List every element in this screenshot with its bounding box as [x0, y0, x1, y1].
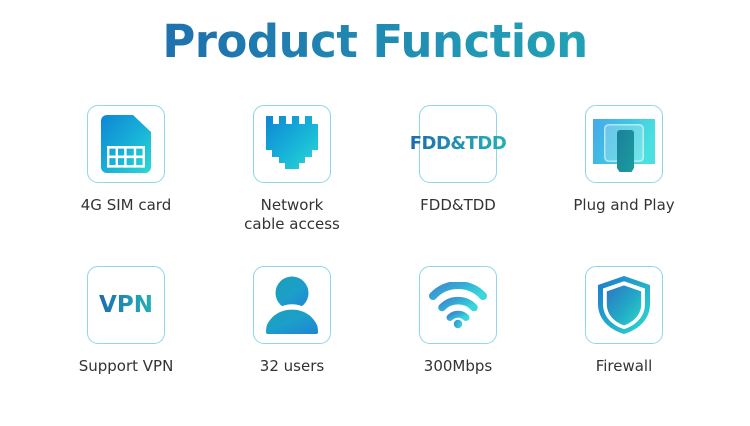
feature-item-plug-and-play[interactable]: Plug and Play: [541, 105, 707, 266]
feature-tile: [253, 266, 331, 344]
sim-card-icon: [101, 115, 151, 173]
fdd-tdd-text-icon: FDD&TDD: [410, 134, 507, 154]
feature-label: Firewall: [596, 357, 653, 376]
feature-tile: [585, 105, 663, 183]
feature-item-32-users[interactable]: 32 users: [209, 266, 375, 386]
feature-item-network-cable-access[interactable]: Network cable access: [209, 105, 375, 266]
feature-item-firewall[interactable]: Firewall: [541, 266, 707, 386]
shield-firewall-icon: [596, 275, 652, 335]
feature-label: Plug and Play: [573, 196, 674, 215]
feature-label: 4G SIM card: [81, 196, 171, 215]
feature-item-fdd-tdd[interactable]: FDD&TDD FDD&TDD: [375, 105, 541, 266]
feature-label: Support VPN: [79, 357, 174, 376]
feature-label: Network cable access: [244, 196, 340, 234]
plug-and-play-icon: [591, 113, 657, 175]
vpn-text-icon: VPN: [99, 295, 153, 315]
feature-row-2: VPN Support VPN: [0, 266, 750, 386]
feature-tile: [585, 266, 663, 344]
feature-label: 32 users: [260, 357, 324, 376]
feature-label: 300Mbps: [424, 357, 492, 376]
rj45-network-cable-icon: [264, 116, 320, 172]
feature-tile: FDD&TDD: [419, 105, 497, 183]
feature-row-1: 4G SIM card: [0, 105, 750, 266]
wifi-signal-icon: [429, 282, 487, 328]
feature-tile: [87, 105, 165, 183]
feature-item-300mbps[interactable]: 300Mbps: [375, 266, 541, 386]
feature-label: FDD&TDD: [420, 196, 496, 215]
product-function-graphic: Product Function: [0, 0, 750, 426]
feature-item-support-vpn[interactable]: VPN Support VPN: [43, 266, 209, 386]
feature-grid: 4G SIM card: [0, 105, 750, 386]
feature-tile: [253, 105, 331, 183]
page-title: Product Function: [0, 14, 750, 70]
user-icon: [264, 276, 320, 334]
feature-tile: VPN: [87, 266, 165, 344]
feature-tile: [419, 266, 497, 344]
feature-item-4g-sim-card[interactable]: 4G SIM card: [43, 105, 209, 266]
